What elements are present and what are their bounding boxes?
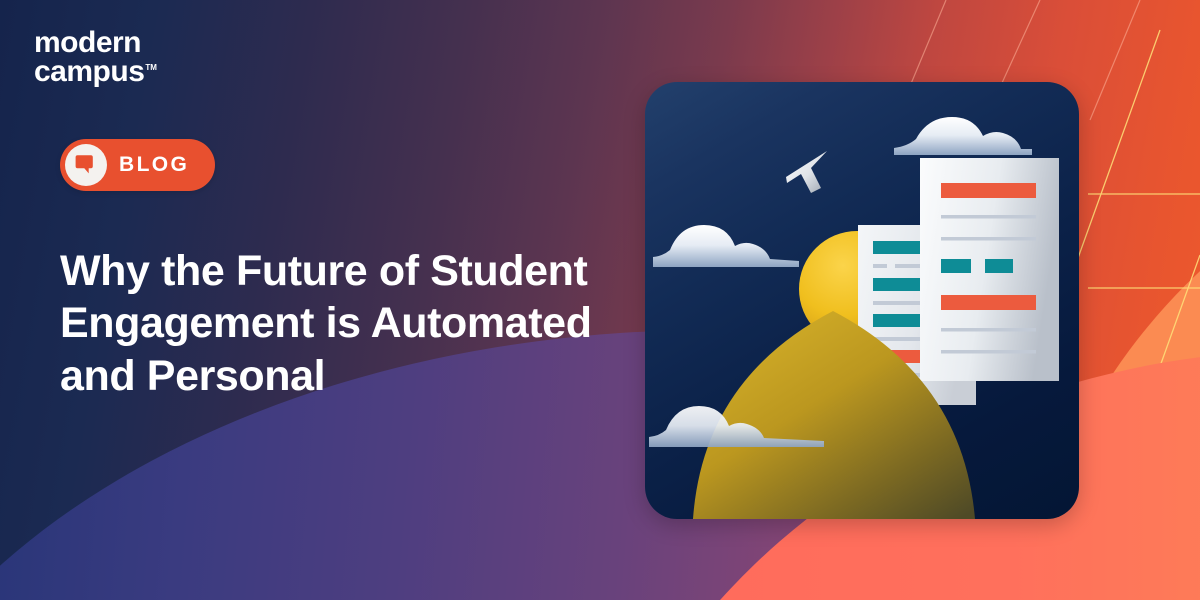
trademark-symbol: TM — [145, 63, 157, 72]
document-front — [920, 158, 1059, 381]
logo-line-modern: modern — [34, 28, 214, 57]
cursor-arrow-icon — [786, 151, 827, 193]
logo-line-campus: campus — [34, 55, 144, 88]
modern-campus-logo[interactable]: modern campusTM — [34, 28, 214, 87]
speech-bubble-icon — [75, 154, 97, 176]
illustration-card — [645, 82, 1079, 519]
badge-label: BLOG — [119, 153, 189, 177]
blog-banner: modern campusTM BLOG Why the Future of S… — [0, 0, 1200, 600]
illustration-svg — [645, 82, 1079, 519]
page-title: Why the Future of Student Engagement is … — [60, 245, 620, 402]
cloud-top-right — [894, 117, 1032, 155]
badge-icon-circle — [65, 144, 107, 186]
cloud-middle-left — [653, 225, 799, 267]
blog-badge[interactable]: BLOG — [60, 139, 215, 191]
